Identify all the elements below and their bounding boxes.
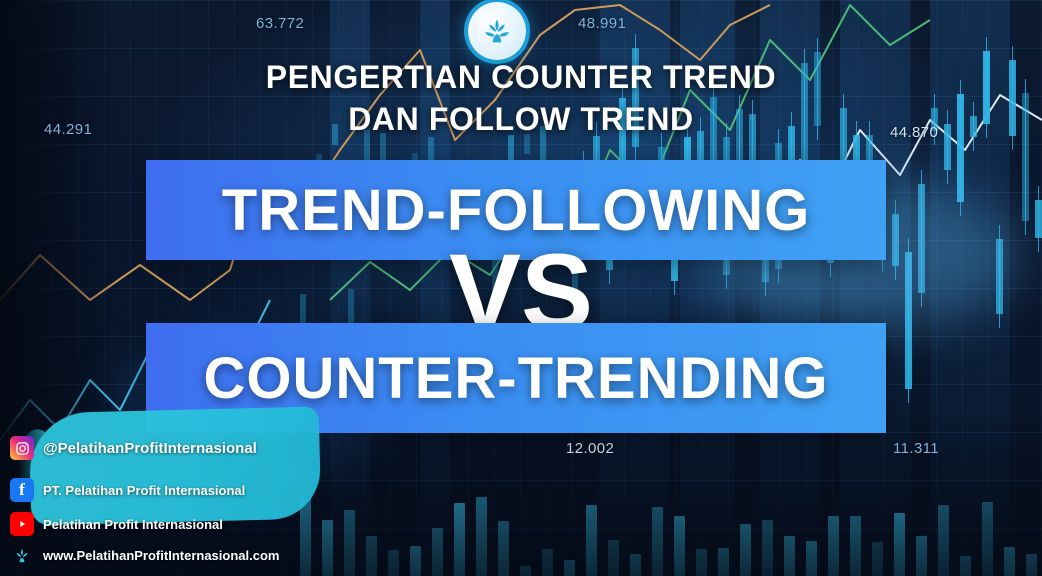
social-facebook[interactable]: f PT. Pelatihan Profit Internasional: [10, 478, 245, 502]
social-website-label: www.PelatihanProfitInternasional.com: [43, 548, 279, 563]
lotus-logo: [468, 2, 526, 60]
price-label: 63.772: [256, 15, 304, 32]
promotional-graphic: 63.77248.99144.29144.87012.00211.311 PEN…: [0, 0, 1042, 576]
social-website[interactable]: www.PelatihanProfitInternasional.com: [10, 543, 279, 567]
social-youtube-label: Pelatihan Profit Internasional: [43, 517, 223, 532]
instagram-icon: [10, 436, 34, 460]
page-title: PENGERTIAN COUNTER TREND DAN FOLLOW TREN…: [0, 56, 1042, 140]
headline-line-1: PENGERTIAN COUNTER TREND: [0, 56, 1042, 98]
price-label: 48.991: [578, 15, 626, 32]
facebook-icon: f: [10, 478, 34, 502]
headline-line-2: DAN FOLLOW TREND: [0, 98, 1042, 140]
social-youtube[interactable]: Pelatihan Profit Internasional: [10, 512, 223, 536]
youtube-icon: [10, 512, 34, 536]
website-icon: [10, 543, 34, 567]
price-label: 12.002: [566, 440, 614, 457]
social-facebook-label: PT. Pelatihan Profit Internasional: [43, 483, 245, 498]
brush-stroke-decoration: [29, 406, 322, 525]
banner-bottom-text: COUNTER-TRENDING: [204, 345, 829, 412]
social-instagram[interactable]: @PelatihanProfitInternasional: [10, 436, 257, 460]
social-instagram-label: @PelatihanProfitInternasional: [43, 440, 257, 457]
price-label: 11.311: [893, 440, 939, 457]
